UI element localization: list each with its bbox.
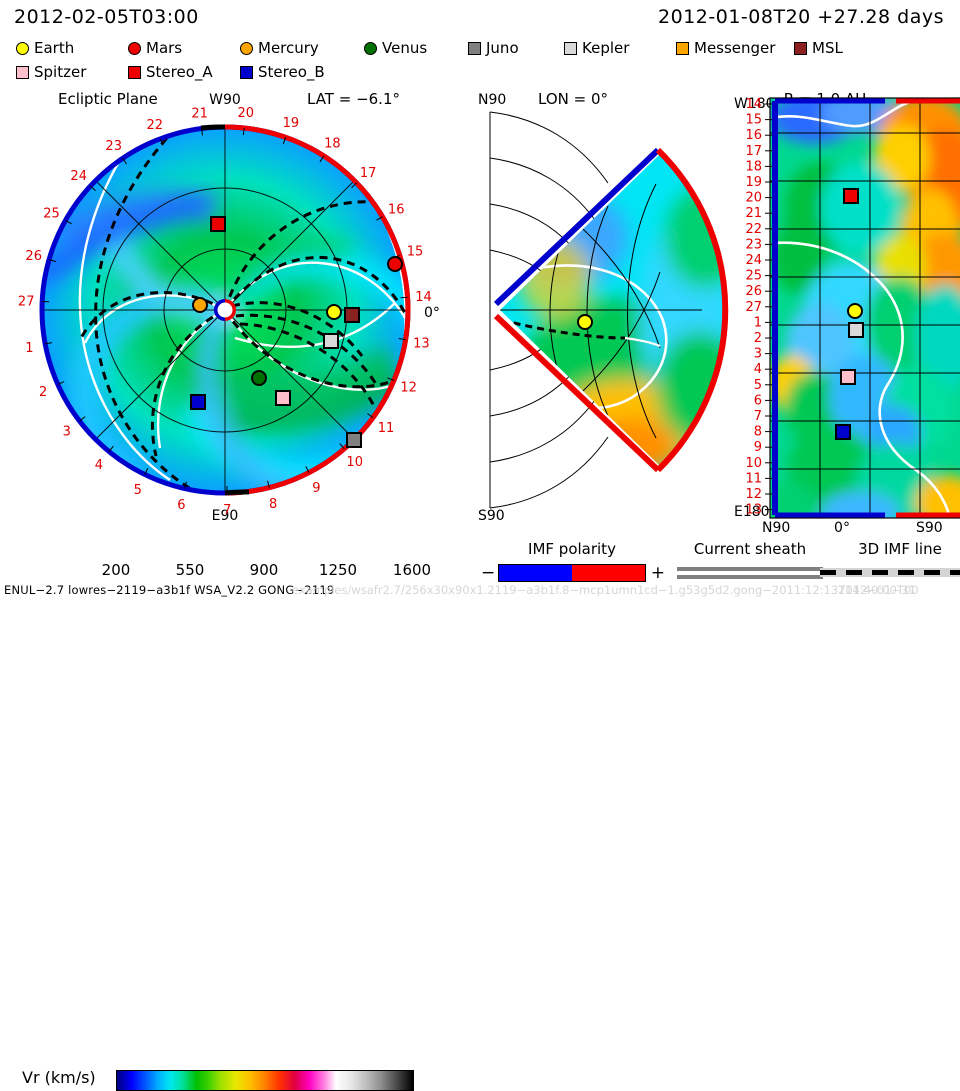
- carrington-tick-7: 7: [754, 409, 762, 424]
- carrington-tick-2: 2: [754, 331, 762, 346]
- ecliptic-tick-1: 1: [25, 341, 33, 356]
- colorbar-tick-550: 550: [168, 561, 212, 579]
- carrington-tick-13: 13: [745, 503, 762, 518]
- ecliptic-tick-mark: [401, 297, 408, 298]
- mercury-marker-icon: [240, 42, 253, 55]
- ecliptic-body-juno: [347, 433, 361, 447]
- ecliptic-tick-mark: [243, 128, 244, 135]
- carrington-body-earth: [848, 304, 862, 318]
- ecliptic-tick-26: 26: [25, 249, 42, 264]
- ecliptic-tick-16: 16: [388, 203, 405, 218]
- carrington-tick-27: 27: [745, 300, 762, 315]
- legend-item-stereo_b: Stereo_B: [240, 60, 325, 84]
- meridional-panel: LON = 0° N90 S90 0°: [478, 90, 745, 524]
- colorbar-tick-1600: 1600: [390, 561, 434, 579]
- ecliptic-tick-15: 15: [407, 245, 424, 260]
- ecliptic-tick-13: 13: [413, 336, 430, 351]
- ecliptic-tick-2: 2: [39, 385, 47, 400]
- ecliptic-tick-7: 7: [223, 503, 231, 518]
- carrington-tick-9: 9: [754, 440, 762, 455]
- carrington-tick-4: 4: [754, 362, 762, 377]
- legend-label: Venus: [382, 39, 427, 57]
- ecliptic-tick-20: 20: [238, 106, 255, 121]
- kepler-marker-icon: [564, 42, 577, 55]
- legend-item-venus: Venus: [364, 36, 427, 60]
- legend-label: Mercury: [258, 39, 319, 57]
- imf-positive-swatch: [572, 565, 645, 581]
- meridional-title: LON = 0°: [538, 90, 608, 108]
- legend-label: MSL: [812, 39, 843, 57]
- carrington-tick-3: 3: [754, 347, 762, 362]
- carrington-tick-19: 19: [745, 175, 762, 190]
- carrington-body-stereo_a: [844, 189, 858, 203]
- carrington-tick-14: 14: [745, 97, 762, 112]
- ecliptic-tick-24: 24: [70, 169, 87, 184]
- colorbar-tick-1250: 1250: [316, 561, 360, 579]
- carrington-tick-12: 12: [745, 487, 762, 502]
- carrington-tick-24: 24: [745, 253, 762, 268]
- mars-marker-icon: [128, 42, 141, 55]
- ecliptic-tick-8: 8: [269, 497, 277, 512]
- ecliptic-tick-6: 6: [177, 498, 185, 513]
- earth-marker-icon: [16, 42, 29, 55]
- carrington-tick-1: 1: [754, 315, 762, 330]
- ecliptic-tick-18: 18: [324, 137, 341, 152]
- legend-item-juno: Juno: [468, 36, 519, 60]
- legend-item-spitzer: Spitzer: [16, 60, 86, 84]
- carrington-panel: R = 1.0 AU W180 E180 N90 0° S90: [734, 90, 960, 533]
- ecliptic-body-spitzer: [276, 391, 290, 405]
- timestamp-current: 2012-02-05T03:00: [14, 6, 199, 28]
- ecliptic-tick-11: 11: [378, 421, 395, 436]
- ecliptic-tick-25: 25: [43, 207, 60, 222]
- timestamp-forecast: 2012-01-08T20 +27.28 days: [658, 6, 944, 28]
- meridional-label-n90: N90: [478, 92, 506, 108]
- ecliptic-tick-27: 27: [18, 295, 35, 310]
- legend-row-1: EarthMarsMercuryVenusJunoKeplerMessenger…: [8, 36, 952, 60]
- legend-label: Earth: [34, 39, 74, 57]
- solar-wind-plots: Ecliptic Plane LAT = −6.1°: [0, 88, 960, 533]
- juno-marker-icon: [468, 42, 481, 55]
- ecliptic-body-mercury: [193, 298, 207, 312]
- ecliptic-tick-12: 12: [400, 381, 417, 396]
- stereo_a-marker-icon: [128, 66, 141, 79]
- ecliptic-tick-17: 17: [360, 166, 377, 181]
- carrington-row-ticks: 1415161718192021222324252627123456789101…: [745, 97, 772, 518]
- ecliptic-body-msl: [345, 308, 359, 322]
- ecliptic-label-zero: 0°: [424, 305, 440, 321]
- colorbar-tick-200: 200: [94, 561, 138, 579]
- carrington-body-spitzer: [841, 370, 855, 384]
- carrington-tick-10: 10: [745, 456, 762, 471]
- ecliptic-label-w90: W90: [209, 92, 241, 108]
- carrington-tick-8: 8: [754, 425, 762, 440]
- ecliptic-body-earth: [327, 305, 341, 319]
- ecliptic-body-stereo_a: [211, 217, 225, 231]
- sun-marker: [214, 299, 236, 321]
- legend-item-messenger: Messenger: [676, 36, 775, 60]
- ecliptic-tick-10: 10: [346, 455, 363, 470]
- legend-item-mars: Mars: [128, 36, 182, 60]
- ecliptic-tick-21: 21: [191, 107, 208, 122]
- footer-watermark: examples/wsafr2.7/256x30x90x1.2119−a3b1f…: [292, 583, 919, 597]
- legend-label: Messenger: [694, 39, 775, 57]
- legend-item-earth: Earth: [16, 36, 74, 60]
- meridional-body-earth: [578, 315, 592, 329]
- carrington-tick-17: 17: [745, 144, 762, 159]
- legend-item-mercury: Mercury: [240, 36, 319, 60]
- ecliptic-body-venus: [252, 371, 266, 385]
- imf-polarity-legend: IMF polarity − +: [472, 540, 672, 582]
- venus-marker-icon: [364, 42, 377, 55]
- spitzer-marker-icon: [16, 66, 29, 79]
- imf-polarity-bar: − +: [498, 564, 646, 582]
- carrington-tick-20: 20: [745, 191, 762, 206]
- ecliptic-rim-gap-bottom: [225, 492, 249, 493]
- imf-negative-swatch: [499, 565, 572, 581]
- carrington-tick-23: 23: [745, 237, 762, 252]
- carrington-tick-18: 18: [745, 159, 762, 174]
- carrington-tick-15: 15: [745, 113, 762, 128]
- legend-label: Juno: [486, 39, 519, 57]
- imf-polarity-caption: IMF polarity: [472, 540, 672, 558]
- ecliptic-title: Ecliptic Plane: [58, 90, 158, 108]
- ecliptic-tick-5: 5: [134, 483, 142, 498]
- ecliptic-tick-14: 14: [415, 290, 432, 305]
- legend-label: Kepler: [582, 39, 629, 57]
- footer-model-info: ENUL−2.7 lowres−2119−a3b1f WSA_V2.2 GONG…: [4, 583, 334, 597]
- meridional-label-s90: S90: [478, 508, 505, 524]
- carrington-tick-11: 11: [745, 471, 762, 486]
- stereo_b-marker-icon: [240, 66, 253, 79]
- ecliptic-lat-label: LAT = −6.1°: [307, 90, 400, 108]
- legend-label: Spitzer: [34, 63, 86, 81]
- body-legend: EarthMarsMercuryVenusJunoKeplerMessenger…: [8, 36, 952, 84]
- carrington-tick-26: 26: [745, 284, 762, 299]
- ecliptic-rim-gap-top: [201, 127, 225, 128]
- carrington-tick-6: 6: [754, 393, 762, 408]
- ecliptic-plane-panel: Ecliptic Plane LAT = −6.1°: [18, 90, 440, 524]
- legend-label: Mars: [146, 39, 182, 57]
- carrington-tick-5: 5: [754, 378, 762, 393]
- carrington-body-kepler: [849, 323, 863, 337]
- carrington-body-stereo_b: [836, 425, 850, 439]
- messenger-marker-icon: [676, 42, 689, 55]
- colorbar-tick-900: 900: [242, 561, 286, 579]
- carrington-label-center: 0°: [834, 520, 850, 533]
- ecliptic-tick-9: 9: [312, 481, 320, 496]
- msl-marker-icon: [794, 42, 807, 55]
- colorbar-label: Vr (km/s): [22, 1068, 96, 1087]
- legend-item-stereo_a: Stereo_A: [128, 60, 213, 84]
- colorbar-gradient: [116, 1070, 414, 1091]
- carrington-tick-25: 25: [745, 269, 762, 284]
- imf-minus-label: −: [481, 563, 495, 583]
- carrington-tick-16: 16: [745, 128, 762, 143]
- imf-line-legend: 3D IMF line: [820, 540, 960, 577]
- ecliptic-body-kepler: [324, 334, 338, 348]
- ecliptic-body-stereo_b: [191, 395, 205, 409]
- carrington-label-s90: S90: [916, 520, 943, 533]
- ecliptic-tick-22: 22: [147, 118, 164, 133]
- footer-watermark-date: 2012−01−31: [838, 583, 916, 597]
- legend-row-2: SpitzerStereo_AStereo_B: [8, 60, 952, 84]
- carrington-tick-22: 22: [745, 222, 762, 237]
- carrington-tick-21: 21: [745, 206, 762, 221]
- header-bar: 2012-02-05T03:00 2012-01-08T20 +27.28 da…: [0, 2, 960, 32]
- meridional-speed-map: [500, 154, 745, 478]
- ecliptic-body-mars: [388, 257, 402, 271]
- imf-line-caption: 3D IMF line: [820, 540, 960, 558]
- legend-item-kepler: Kepler: [564, 36, 629, 60]
- carrington-label-n90: N90: [762, 520, 790, 533]
- imf-line-swatch: [820, 568, 960, 577]
- legend-item-msl: MSL: [794, 36, 843, 60]
- legend-label: Stereo_B: [258, 63, 325, 81]
- legend-label: Stereo_A: [146, 63, 213, 81]
- ecliptic-tick-23: 23: [105, 139, 122, 154]
- ecliptic-tick-3: 3: [63, 425, 71, 440]
- ecliptic-tick-4: 4: [95, 458, 103, 473]
- ecliptic-tick-19: 19: [283, 116, 300, 131]
